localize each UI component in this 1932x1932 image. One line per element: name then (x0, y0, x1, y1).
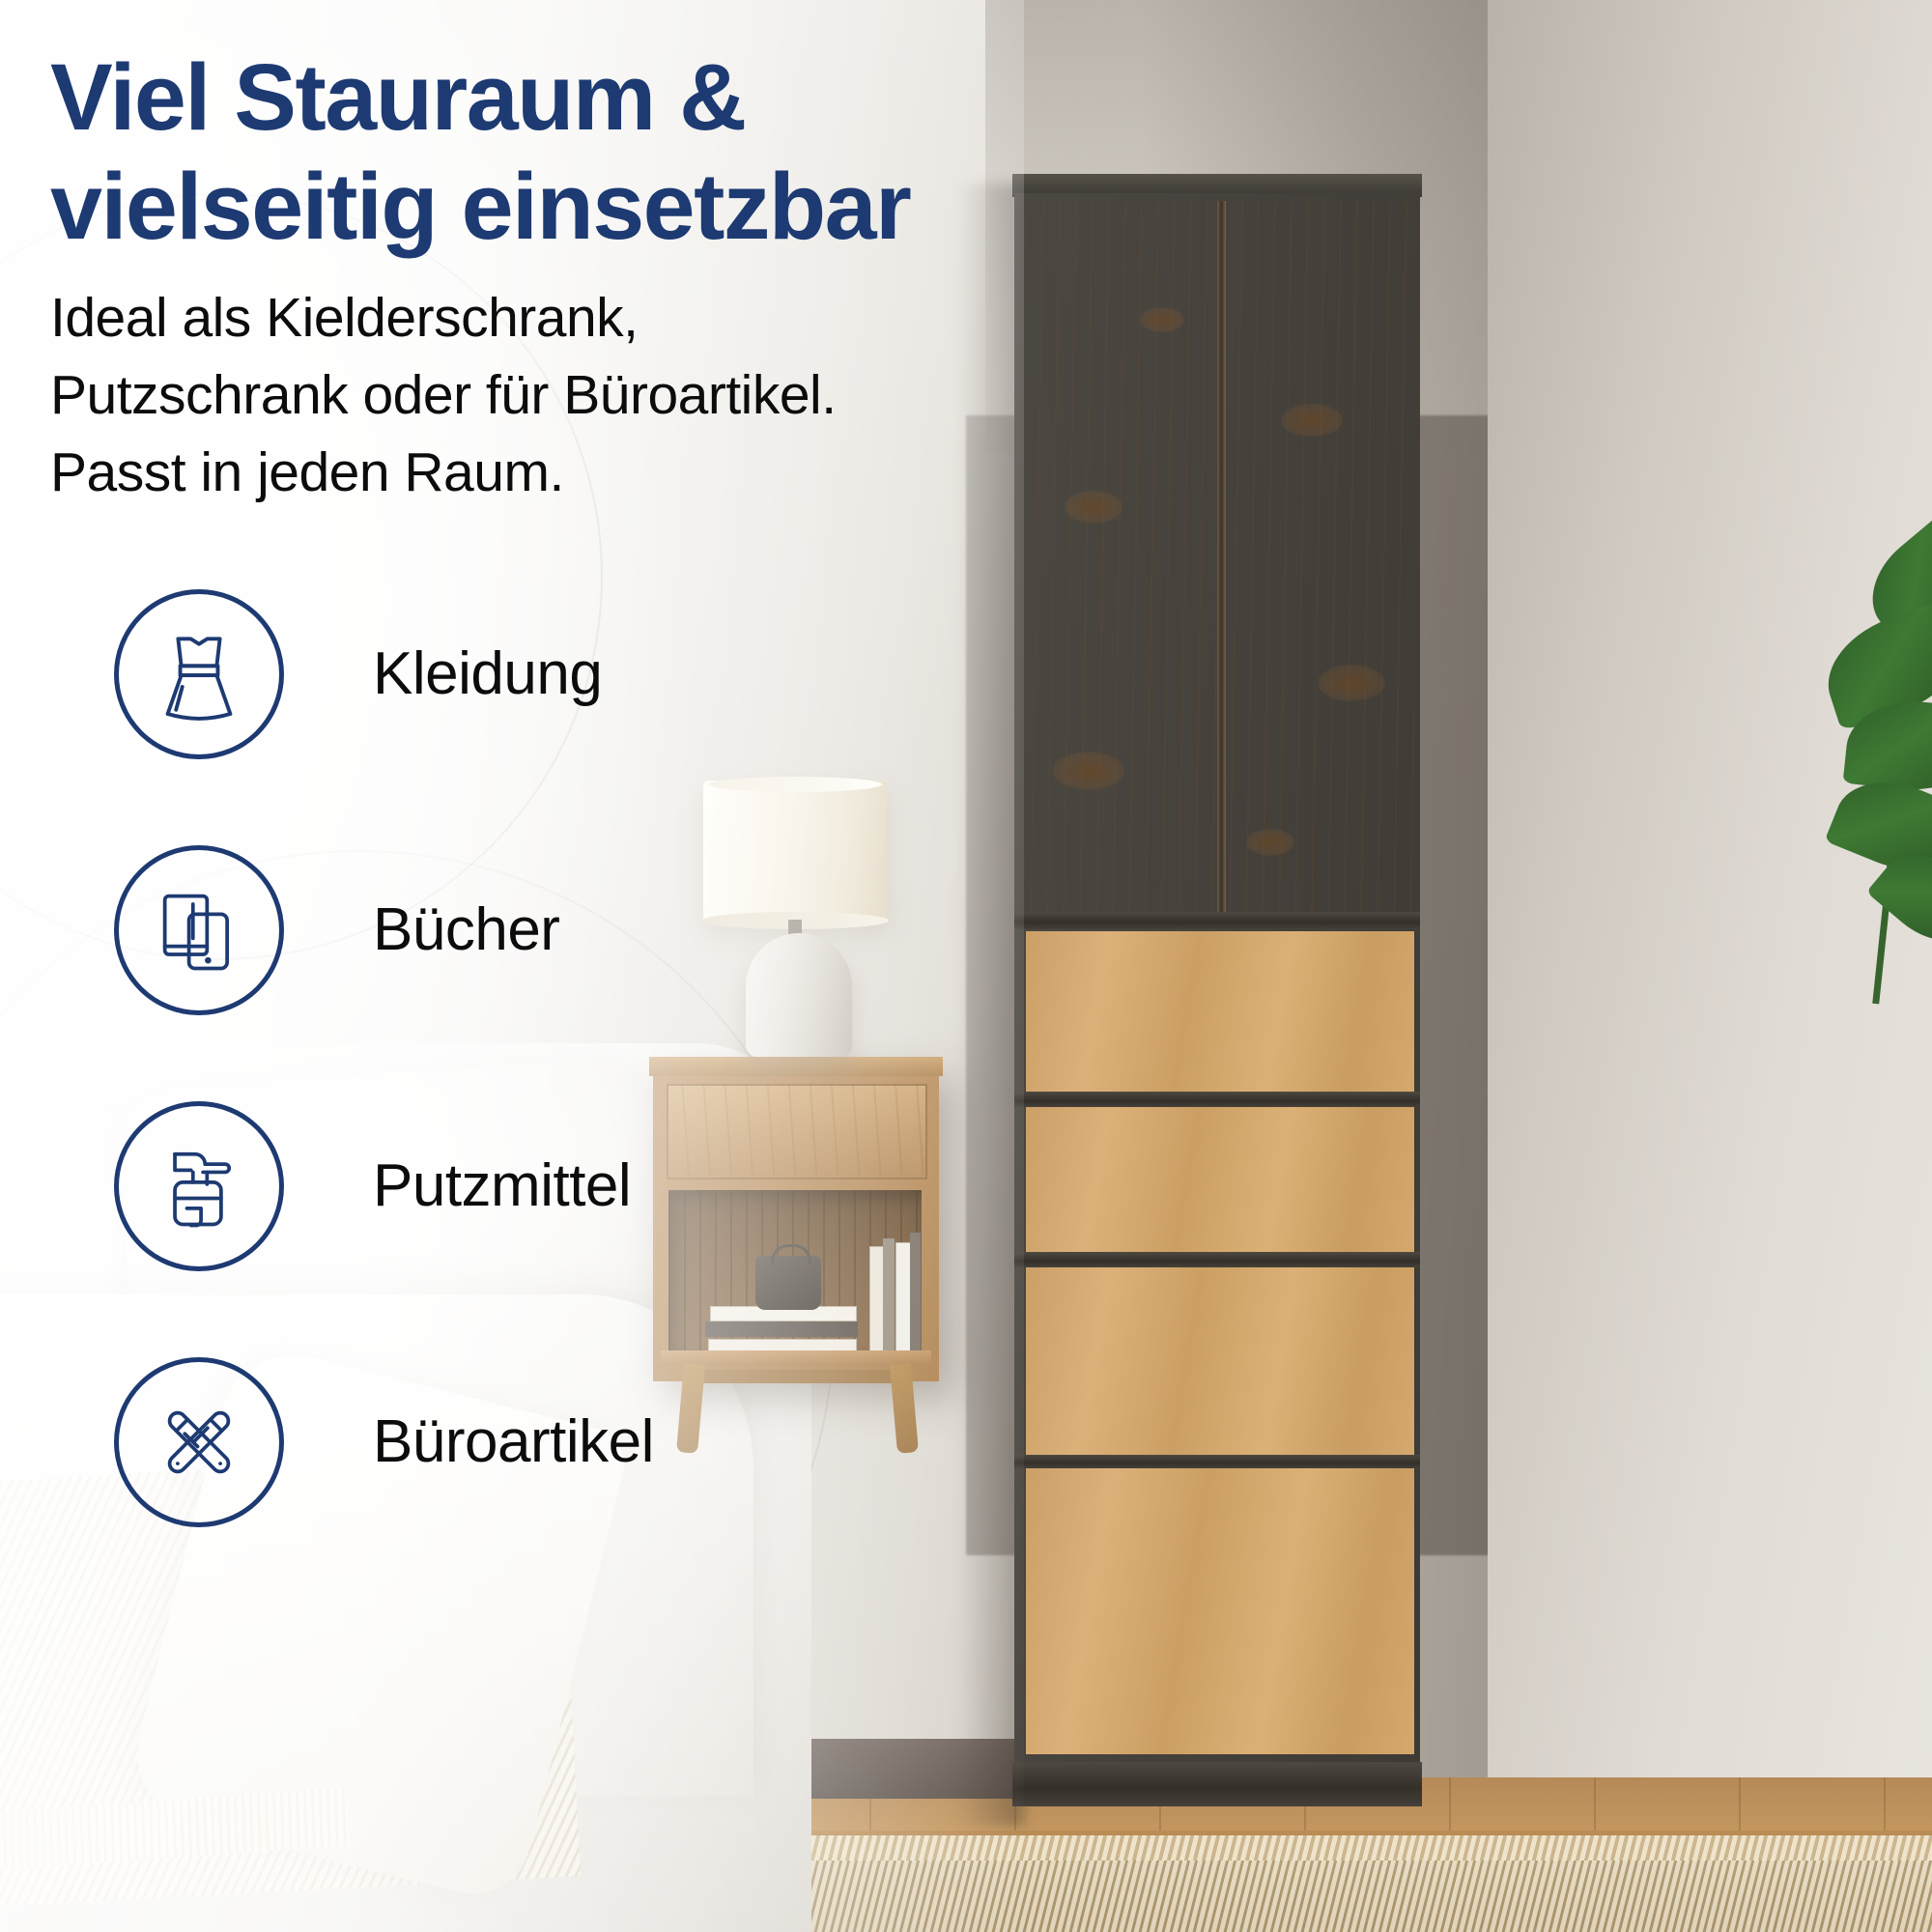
feature-icon-frame (114, 1101, 284, 1271)
crossed-pencils-icon (149, 1392, 249, 1492)
wardrobe-drawer-4 (1026, 1468, 1414, 1754)
product-marketing-banner: Viel Stauraum & vielseitig einsetzbar Id… (0, 0, 1932, 1932)
feature-item-putzmittel: Putzmittel (114, 1058, 1022, 1314)
subtitle-line-3: Passt in jeden Raum. (50, 435, 920, 512)
book-tablet-icon (149, 880, 249, 980)
subtitle-line-1: Ideal als Kielderschrank, (50, 280, 920, 357)
feature-label: Kleidung (373, 639, 602, 708)
wardrobe-plinth (1012, 1762, 1422, 1806)
wardrobe-drawer-1 (1026, 931, 1414, 1094)
feature-label: Putzmittel (373, 1151, 631, 1220)
feature-item-bueroartikel: Büroartikel (114, 1314, 1022, 1570)
feature-label: Bücher (373, 895, 559, 964)
feature-item-kleidung: Kleidung (114, 546, 1022, 802)
page-title: Viel Stauraum & vielseitig einsetzbar (50, 43, 1132, 262)
subtitle: Ideal als Kielderschrank, Putzschrank od… (50, 280, 920, 511)
wardrobe-drawer-3 (1026, 1267, 1414, 1457)
wardrobe-door-seam (1217, 201, 1226, 916)
feature-label: Büroartikel (373, 1407, 654, 1476)
feature-icon-frame (114, 1357, 284, 1527)
wardrobe-drawer-2 (1026, 1107, 1414, 1254)
wardrobe-rail-1 (1014, 912, 1420, 929)
feature-item-buecher: Bücher (114, 802, 1022, 1058)
feature-list: Kleidung Bücher (114, 546, 1022, 1570)
spray-bottle-icon (149, 1136, 249, 1236)
wardrobe-rail-3 (1014, 1252, 1420, 1267)
dress-icon (147, 622, 251, 726)
subtitle-line-2: Putzschrank oder für Büroartikel. (50, 357, 920, 435)
wardrobe-rail-4 (1014, 1455, 1420, 1468)
wardrobe-rail-2 (1014, 1092, 1420, 1107)
wardrobe-door-left (1026, 201, 1219, 916)
right-wall (1488, 0, 1932, 1835)
wardrobe-door-right (1225, 201, 1414, 916)
feature-icon-frame (114, 845, 284, 1015)
copy-block: Viel Stauraum & vielseitig einsetzbar Id… (0, 0, 1024, 1932)
feature-icon-frame (114, 589, 284, 759)
